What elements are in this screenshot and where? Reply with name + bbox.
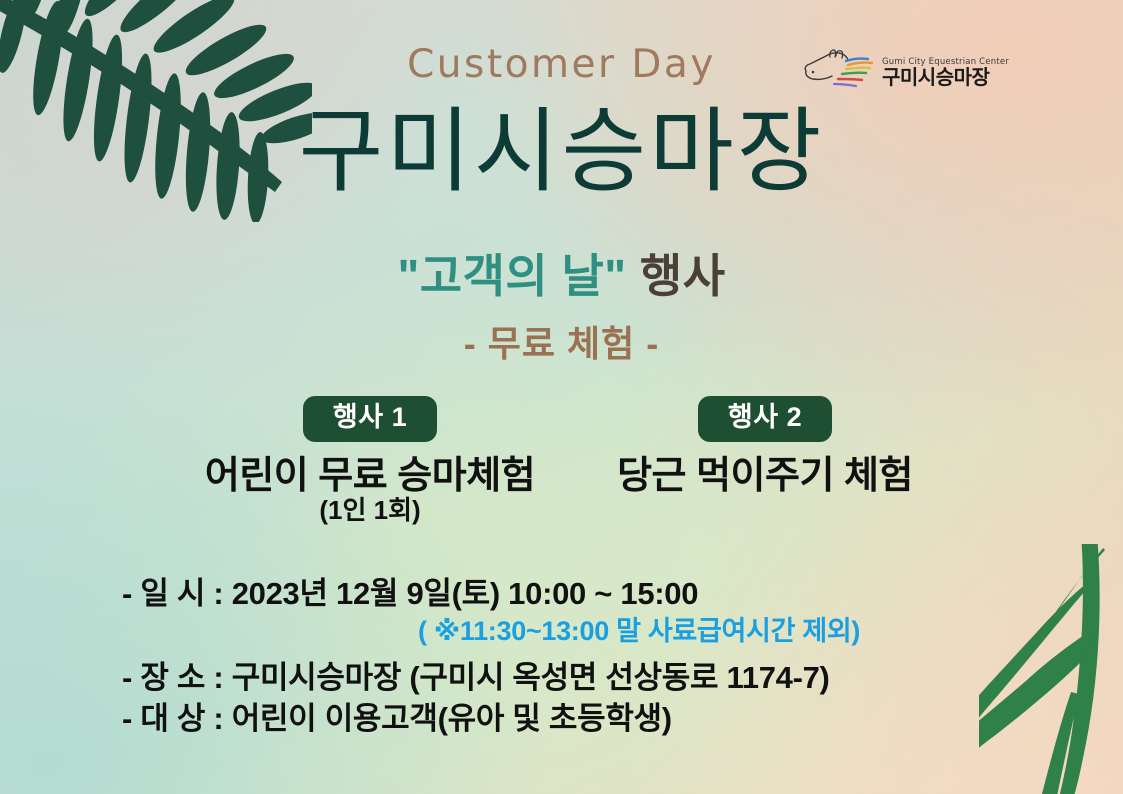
logo-korean-name: 구미시승마장 <box>882 68 1009 88</box>
detail-spacer <box>122 649 1022 657</box>
equestrian-center-logo: Gumi City Equestrian Center 구미시승마장 <box>800 47 985 99</box>
status-badge: 행사 1 <box>303 396 437 442</box>
horse-head-icon <box>800 49 878 97</box>
events-section: 행사 1 어린이 무료 승마체험 (1인 1회) 행사 2 당근 먹이주기 체험 <box>0 396 1123 546</box>
event-1-name: 어린이 무료 승마체험 <box>160 455 580 498</box>
event-card-1: 행사 1 어린이 무료 승마체험 (1인 1회) <box>160 396 580 526</box>
detail-datetime-note: ( ※11:30~13:00 말 사료급여시간 제외) <box>418 614 1022 649</box>
page-title: 구미시승마장 <box>0 103 1123 202</box>
subtitle: "고객의 날" 행사 <box>0 240 1123 306</box>
subtitle-quoted: "고객의 날" <box>397 250 626 302</box>
subtitle-plain: 행사 <box>640 250 726 302</box>
detail-place: - 장 소 : 구미시승마장 (구미시 옥성면 선상동로 1174-7) <box>122 657 1022 698</box>
status-badge: 행사 2 <box>698 396 832 442</box>
logo-english-name: Gumi City Equestrian Center <box>882 58 1009 67</box>
event-1-note: (1인 1회) <box>160 496 580 526</box>
poster-canvas: Customer Day Gumi City Equestrian Center… <box>0 0 1123 794</box>
event-2-name: 당근 먹이주기 체험 <box>600 455 930 498</box>
tagline: - 무료 체험 - <box>0 315 1123 367</box>
detail-datetime: - 일 시 : 2023년 12월 9일(토) 10:00 ~ 15:00 <box>122 573 1022 614</box>
details-section: - 일 시 : 2023년 12월 9일(토) 10:00 ~ 15:00 ( … <box>122 573 1022 739</box>
detail-target: - 대 상 : 어린이 이용고객(유아 및 초등학생) <box>122 698 1022 739</box>
event-card-2: 행사 2 당근 먹이주기 체험 <box>600 396 930 497</box>
